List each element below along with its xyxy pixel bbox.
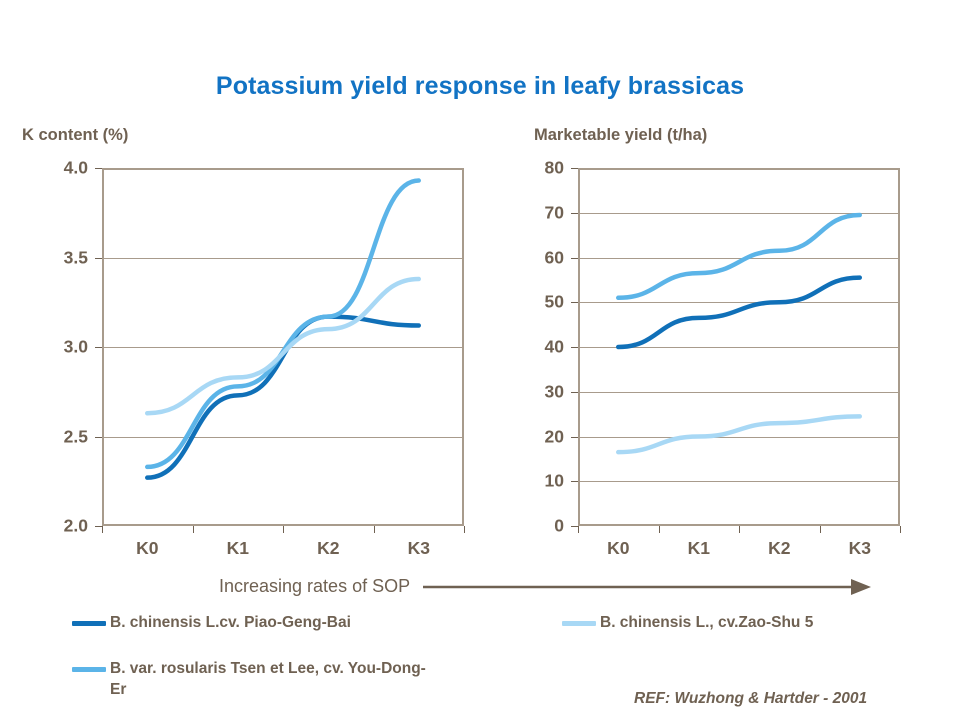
x-tick-mark xyxy=(374,526,375,533)
x-tick-label: K2 xyxy=(317,538,339,559)
reference-note: REF: Wuzhong & Hartder - 2001 xyxy=(634,690,867,708)
x-tick-label: K0 xyxy=(607,538,629,559)
y-tick-mark xyxy=(571,213,578,214)
y-tick-mark xyxy=(571,437,578,438)
y-tick-label: 20 xyxy=(518,426,564,447)
legend-item-label: B. chinensis L., cv.Zao-Shu 5 xyxy=(600,612,813,633)
y-tick-mark xyxy=(571,258,578,259)
y-tick-mark xyxy=(95,258,102,259)
legend-item-label: B. chinensis L.cv. Piao-Geng-Bai xyxy=(110,612,351,633)
x-tick-label: K1 xyxy=(688,538,710,559)
series-line xyxy=(147,279,419,413)
y-tick-mark xyxy=(571,302,578,303)
x-tick-mark xyxy=(659,526,660,533)
y-tick-label: 60 xyxy=(518,247,564,268)
x-tick-mark xyxy=(193,526,194,533)
x-tick-mark xyxy=(283,526,284,533)
legend-swatch-icon xyxy=(72,621,106,626)
right-chart-axis-caption: Marketable yield (t/ha) xyxy=(534,126,707,145)
x-tick-label: K0 xyxy=(136,538,158,559)
slide-canvas: Potassium yield response in leafy brassi… xyxy=(0,0,960,720)
y-tick-mark xyxy=(571,392,578,393)
x-tick-mark xyxy=(578,526,579,533)
legend-item-label: B. var. rosularis Tsen et Lee, cv. You-D… xyxy=(110,658,442,700)
y-tick-label: 4.0 xyxy=(42,158,88,179)
y-tick-label: 3.0 xyxy=(42,337,88,358)
x-tick-mark xyxy=(464,526,465,533)
x-tick-mark xyxy=(739,526,740,533)
y-tick-label: 3.5 xyxy=(42,247,88,268)
left-chart-axis-caption: K content (%) xyxy=(22,126,128,145)
y-tick-label: 70 xyxy=(518,202,564,223)
y-tick-mark xyxy=(571,347,578,348)
x-tick-mark xyxy=(820,526,821,533)
x-tick-mark xyxy=(102,526,103,533)
y-tick-mark xyxy=(571,481,578,482)
sop-axis-label: Increasing rates of SOP xyxy=(219,576,410,597)
series-line xyxy=(618,416,860,452)
left-chart-series xyxy=(102,168,464,526)
page-title: Potassium yield response in leafy brassi… xyxy=(0,72,960,101)
x-tick-label: K3 xyxy=(849,538,871,559)
y-tick-label: 10 xyxy=(518,471,564,492)
right-chart-plot: 01020304050607080 K0K1K2K3 xyxy=(578,168,900,526)
right-arrow-icon xyxy=(423,576,871,598)
y-tick-mark xyxy=(95,168,102,169)
y-tick-label: 30 xyxy=(518,381,564,402)
x-tick-mark xyxy=(900,526,901,533)
legend-item: B. chinensis L.cv. Piao-Geng-Bai xyxy=(72,612,472,633)
y-tick-mark xyxy=(571,168,578,169)
y-tick-label: 2.5 xyxy=(42,426,88,447)
right-chart-series xyxy=(578,168,900,526)
legend-item: B. var. rosularis Tsen et Lee, cv. You-D… xyxy=(72,658,442,700)
left-chart-plot: 2.02.53.03.54.0 K0K1K2K3 xyxy=(102,168,464,526)
x-tick-label: K2 xyxy=(768,538,790,559)
y-tick-mark xyxy=(95,526,102,527)
y-tick-mark xyxy=(95,437,102,438)
legend-item: B. chinensis L., cv.Zao-Shu 5 xyxy=(562,612,960,633)
y-tick-label: 50 xyxy=(518,292,564,313)
y-tick-label: 2.0 xyxy=(42,516,88,537)
x-tick-label: K1 xyxy=(227,538,249,559)
y-tick-mark xyxy=(95,347,102,348)
y-tick-label: 40 xyxy=(518,337,564,358)
y-tick-label: 0 xyxy=(518,516,564,537)
x-tick-label: K3 xyxy=(408,538,430,559)
legend-swatch-icon xyxy=(562,621,596,626)
y-tick-label: 80 xyxy=(518,158,564,179)
y-tick-mark xyxy=(571,526,578,527)
legend-swatch-icon xyxy=(72,667,106,672)
